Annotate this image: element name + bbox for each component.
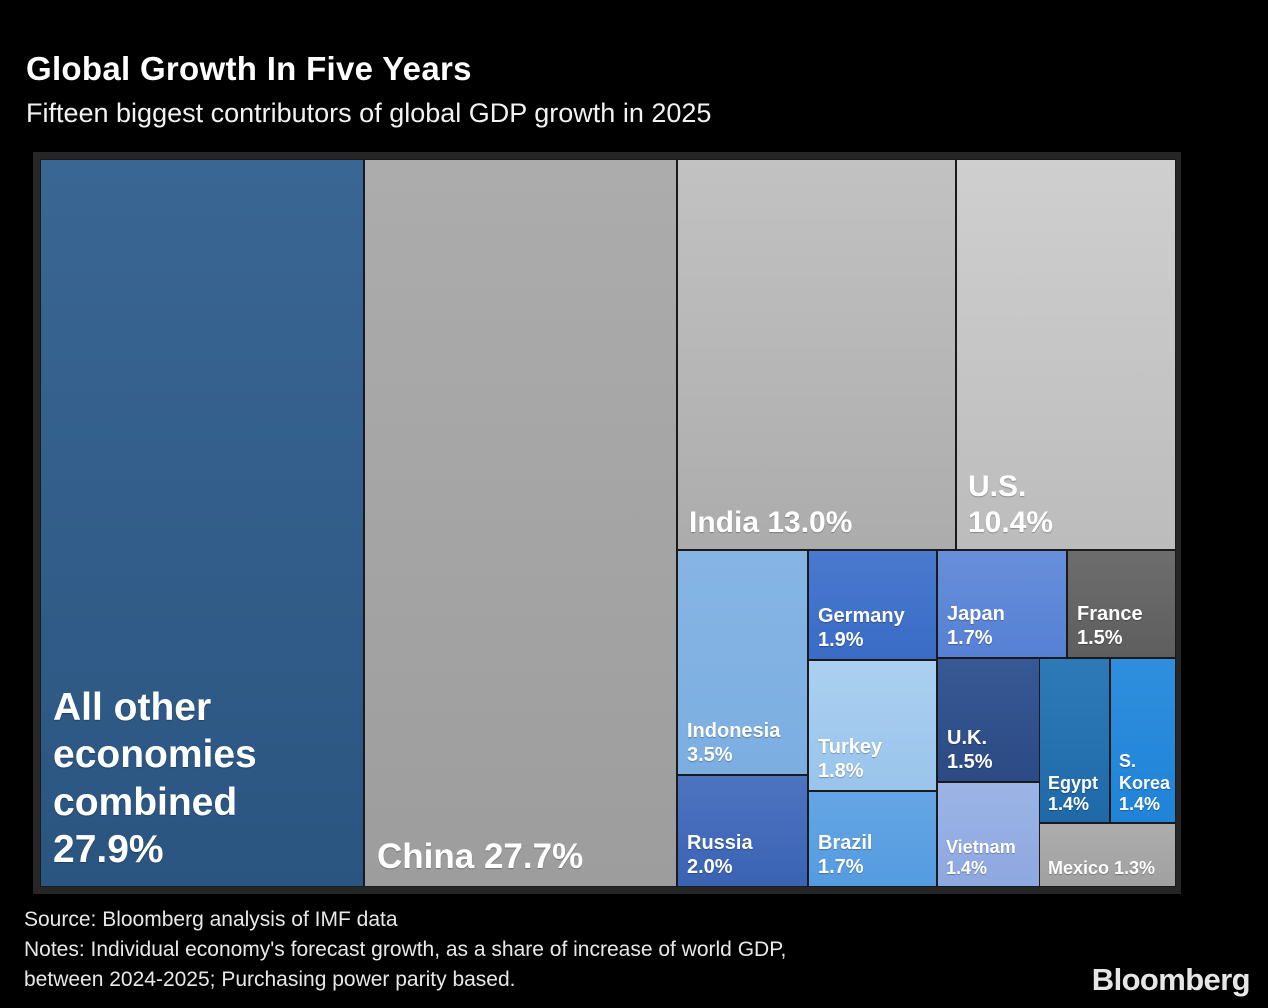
treemap-cell-label-egypt: Egypt 1.4% bbox=[1048, 773, 1098, 816]
chart-header: Global Growth In Five Years Fifteen bigg… bbox=[0, 0, 1268, 150]
treemap-cell-india[interactable]: India 13.0% bbox=[677, 159, 956, 550]
treemap-cell-label-us: U.S. 10.4% bbox=[968, 469, 1053, 540]
treemap-cell-all-other[interactable]: All other economies combined 27.9% bbox=[40, 159, 364, 887]
treemap-cell-label-germany: Germany 1.9% bbox=[818, 604, 905, 652]
treemap-cell-label-uk: U.K. 1.5% bbox=[947, 726, 993, 774]
treemap-cell-label-japan: Japan 1.7% bbox=[947, 602, 1005, 650]
treemap-cell-turkey[interactable]: Turkey 1.8% bbox=[808, 660, 937, 791]
treemap-cell-germany[interactable]: Germany 1.9% bbox=[808, 550, 937, 660]
treemap-cell-japan[interactable]: Japan 1.7% bbox=[937, 550, 1067, 658]
notes-line-1: Notes: Individual economy's forecast gro… bbox=[24, 938, 786, 962]
notes-line-2: between 2024-2025; Purchasing power pari… bbox=[24, 968, 516, 992]
treemap-cell-france[interactable]: France 1.5% bbox=[1067, 550, 1176, 658]
source-note: Source: Bloomberg analysis of IMF data bbox=[24, 908, 398, 932]
treemap-cell-label-s-korea: S. Korea 1.4% bbox=[1119, 751, 1170, 816]
treemap-cell-label-vietnam: Vietnam 1.4% bbox=[946, 837, 1016, 880]
treemap-cell-egypt[interactable]: Egypt 1.4% bbox=[1039, 658, 1110, 823]
treemap-chart: All other economies combined 27.9%China … bbox=[33, 152, 1181, 894]
treemap-cell-label-turkey: Turkey 1.8% bbox=[818, 735, 882, 783]
treemap-cell-label-brazil: Brazil 1.7% bbox=[818, 831, 872, 879]
treemap-cell-brazil[interactable]: Brazil 1.7% bbox=[808, 791, 937, 887]
treemap-cell-russia[interactable]: Russia 2.0% bbox=[677, 775, 808, 887]
treemap-cell-s-korea[interactable]: S. Korea 1.4% bbox=[1110, 658, 1176, 823]
treemap-cell-china[interactable]: China 27.7% bbox=[364, 159, 677, 887]
page-title: Global Growth In Five Years bbox=[26, 50, 472, 88]
treemap-cell-label-china: China 27.7% bbox=[377, 837, 583, 876]
treemap-cell-label-mexico: Mexico 1.3% bbox=[1048, 858, 1155, 880]
treemap-cell-mexico[interactable]: Mexico 1.3% bbox=[1039, 823, 1176, 887]
treemap-cell-label-russia: Russia 2.0% bbox=[687, 831, 753, 879]
treemap-cell-label-india: India 13.0% bbox=[689, 505, 852, 540]
chart-footer: Source: Bloomberg analysis of IMF data N… bbox=[0, 900, 1268, 1008]
bloomberg-logo: Bloomberg bbox=[1092, 962, 1250, 998]
treemap-cell-label-france: France 1.5% bbox=[1077, 602, 1143, 650]
treemap-cell-label-indonesia: Indonesia 3.5% bbox=[687, 719, 780, 767]
treemap-cell-label-all-other: All other economies combined 27.9% bbox=[53, 684, 257, 874]
treemap-cells-container: All other economies combined 27.9%China … bbox=[38, 157, 1176, 889]
treemap-cell-indonesia[interactable]: Indonesia 3.5% bbox=[677, 550, 808, 775]
chart-subtitle: Fifteen biggest contributors of global G… bbox=[26, 98, 711, 129]
treemap-cell-us[interactable]: U.S. 10.4% bbox=[956, 159, 1176, 550]
